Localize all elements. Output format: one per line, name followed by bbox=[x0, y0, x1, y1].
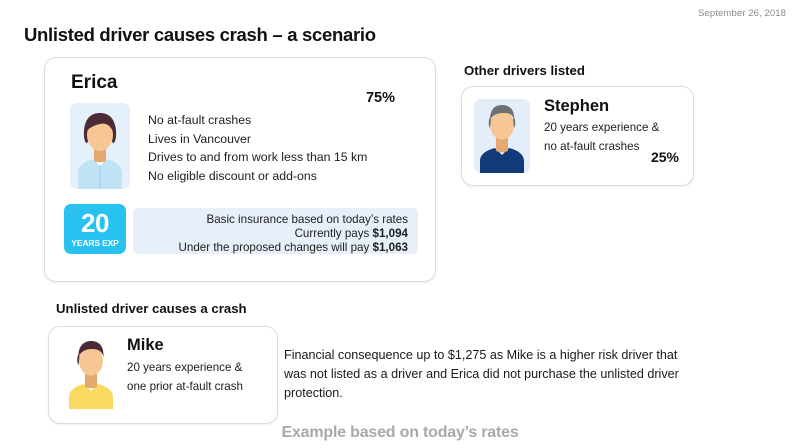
experience-badge: 20 YEARS EXP bbox=[64, 204, 126, 254]
fact-item: Lives in Vancouver bbox=[148, 130, 367, 149]
primary-driver-facts: No at-fault crashes Lives in Vancouver D… bbox=[148, 111, 367, 185]
fact-line: 20 years experience & bbox=[127, 358, 243, 377]
unlisted-driver-heading: Unlisted driver causes a crash bbox=[56, 301, 247, 316]
other-driver-percent: 25% bbox=[651, 149, 679, 165]
unlisted-driver-facts: 20 years experience & one prior at-fault… bbox=[127, 358, 243, 396]
slide-date: September 26, 2018 bbox=[698, 8, 786, 19]
fact-line: 20 years experience & bbox=[544, 118, 659, 137]
primary-driver-card: Erica 75% No at-fault crashes Lives bbox=[44, 57, 436, 282]
page-title: Unlisted driver causes crash – a scenari… bbox=[24, 24, 376, 46]
woman-avatar-icon bbox=[70, 103, 130, 189]
other-drivers-heading: Other drivers listed bbox=[464, 63, 585, 78]
fact-item: Drives to and from work less than 15 km bbox=[148, 148, 367, 167]
experience-label: YEARS EXP bbox=[64, 238, 126, 249]
current-rate-amount: $1,094 bbox=[373, 227, 408, 240]
proposed-rate-prefix: Under the proposed changes will pay bbox=[179, 241, 373, 254]
experience-years: 20 bbox=[64, 204, 126, 238]
unlisted-driver-name: Mike bbox=[127, 336, 164, 355]
other-driver-name: Stephen bbox=[544, 97, 609, 116]
other-driver-facts: 20 years experience & no at-fault crashe… bbox=[544, 118, 659, 156]
proposed-rate-amount: $1,063 bbox=[373, 241, 408, 254]
other-driver-card: Stephen 20 years experience & no at-faul… bbox=[461, 86, 694, 186]
rates-heading: Basic insurance based on today’s rates bbox=[133, 213, 408, 227]
older-man-avatar-icon bbox=[474, 99, 530, 173]
unlisted-driver-card: Mike 20 years experience & one prior at-… bbox=[48, 326, 278, 424]
fact-line: one prior at-fault crash bbox=[127, 377, 243, 396]
fact-item: No eligible discount or add-ons bbox=[148, 167, 367, 186]
man-avatar-icon bbox=[63, 337, 119, 409]
proposed-rate-line: Under the proposed changes will pay $1,0… bbox=[133, 241, 408, 255]
current-rate-prefix: Currently pays bbox=[295, 227, 373, 240]
fact-line: no at-fault crashes bbox=[544, 137, 659, 156]
consequence-text: Financial consequence up to $1,275 as Mi… bbox=[284, 346, 690, 403]
current-rate-line: Currently pays $1,094 bbox=[133, 227, 408, 241]
primary-driver-name: Erica bbox=[71, 72, 117, 94]
primary-driver-percent: 75% bbox=[366, 90, 395, 106]
footer-note: Example based on today’s rates bbox=[0, 424, 800, 442]
fact-item: No at-fault crashes bbox=[148, 111, 367, 130]
rates-panel: Basic insurance based on today’s rates C… bbox=[133, 208, 418, 254]
slide-canvas: September 26, 2018 Unlisted driver cause… bbox=[0, 0, 800, 448]
